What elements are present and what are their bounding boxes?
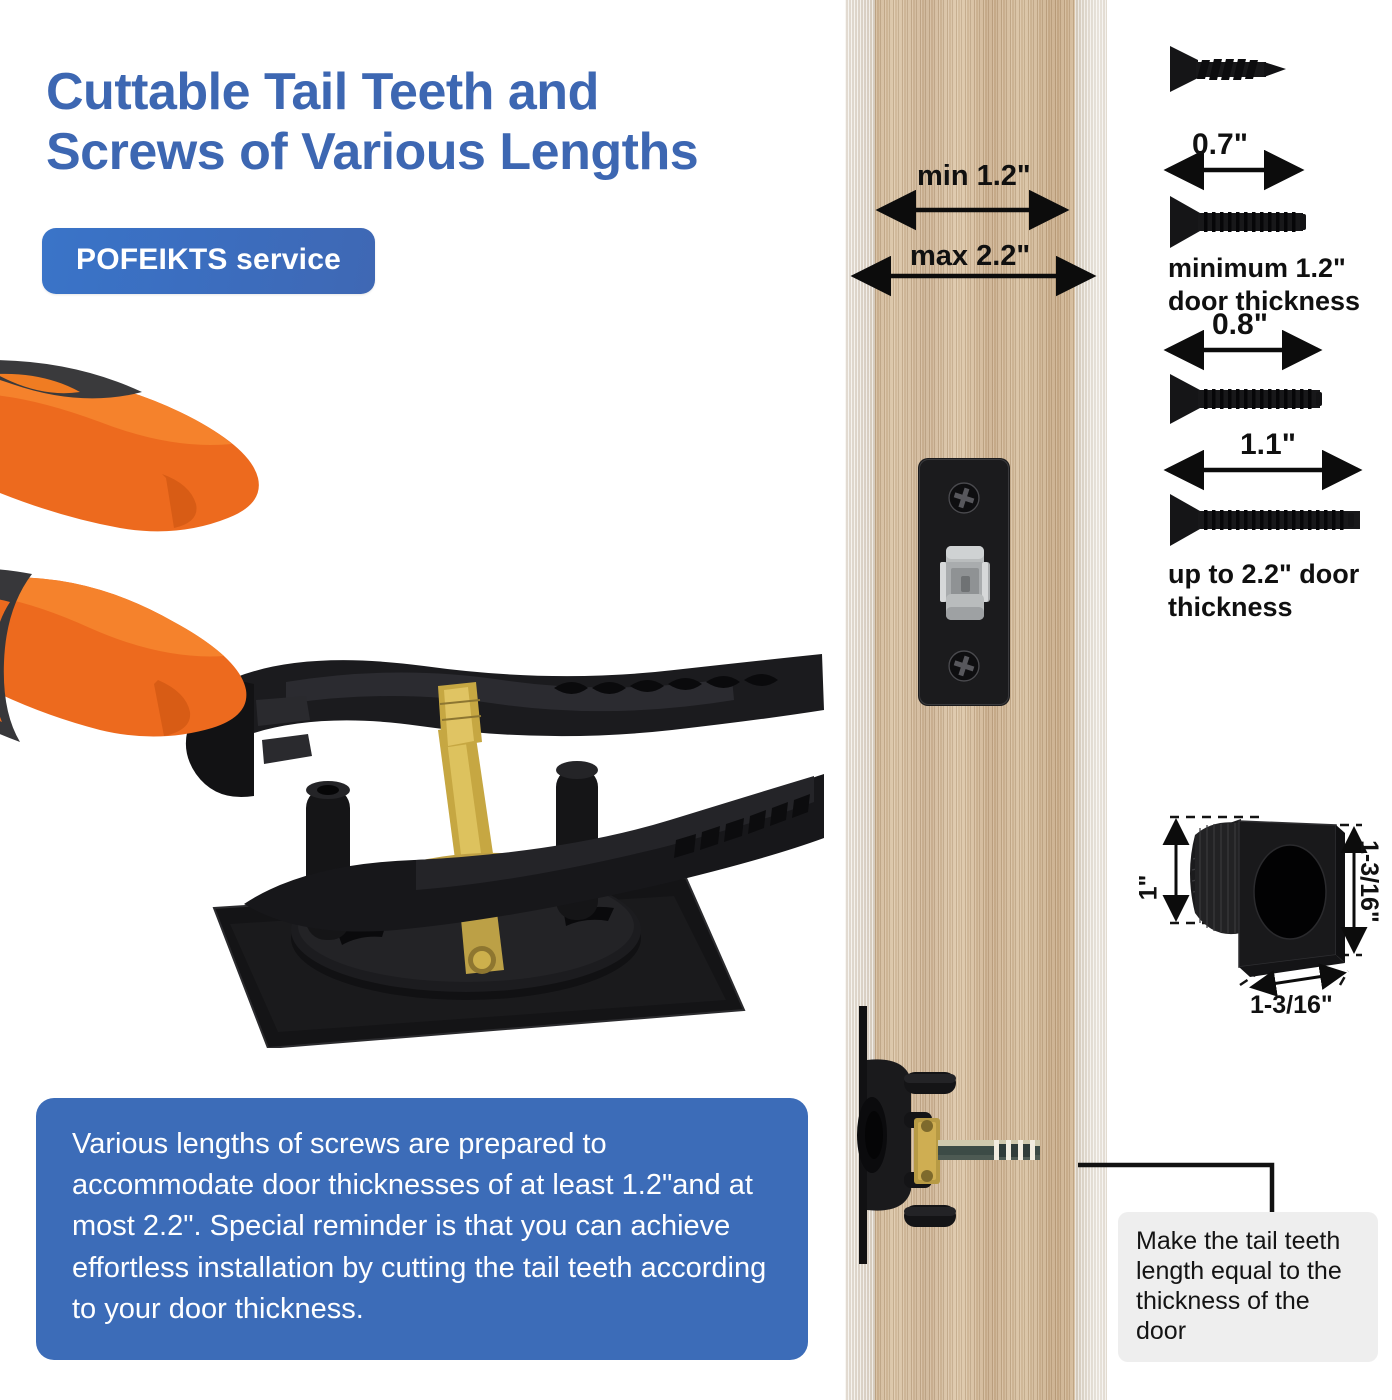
brand-service-badge: POFEIKTS service: [42, 228, 375, 294]
callout-line3: thickness of the door: [1136, 1287, 1310, 1345]
screw-1-1-dimension: 1.1": [1240, 428, 1296, 462]
callout-line2: length equal to the: [1136, 1257, 1342, 1285]
square-spindle-bushing-diagram: 1" 1-3/16" 1-3/16": [1140, 795, 1385, 1025]
latch-faceplate-on-door: [918, 458, 1010, 706]
screw-max-note-line2: thickness: [1168, 592, 1293, 622]
callout-line1: Make the tail teeth: [1136, 1227, 1340, 1255]
screw-machine-min: [1168, 190, 1388, 252]
screw-machine-1-1: [1168, 488, 1392, 550]
screw-max-note: up to 2.2" door thickness: [1168, 558, 1359, 624]
callout-tail-teeth: Make the tail teeth length equal to the …: [1118, 1212, 1378, 1362]
door-max-thickness-label: max 2.2": [910, 240, 1030, 273]
door-min-thickness-label: min 1.2": [917, 160, 1031, 193]
spindle-dim-bottom: 1-3/16": [1250, 991, 1333, 1020]
pliers-cutting-tail-teeth-photo: [0, 348, 824, 1048]
page-title-line1: Cuttable Tail Teeth and: [46, 63, 599, 121]
screw-0-8-dimension: 0.8": [1212, 308, 1268, 342]
spindle-dim-right: 1-3/16": [1343, 840, 1383, 923]
screw-wood-0-7: [1168, 38, 1388, 98]
screw-machine-0-8: [1168, 368, 1392, 428]
lock-rosette-with-tail-teeth: [852, 1000, 1057, 1270]
infographic-canvas: min 1.2" max 2.2": [0, 0, 1392, 1400]
screw-0-7-dimension: 0.7": [1192, 128, 1248, 162]
page-title-line2: Screws of Various Lengths: [46, 122, 846, 182]
screw-min-note-line1: minimum 1.2": [1168, 253, 1346, 283]
page-title: Cuttable Tail Teeth and Screws of Variou…: [46, 62, 846, 183]
spindle-dim-left: 1": [1134, 875, 1163, 901]
screw-max-note-line1: up to 2.2" door: [1168, 559, 1359, 589]
description-callout: Various lengths of screws are prepared t…: [36, 1098, 808, 1360]
